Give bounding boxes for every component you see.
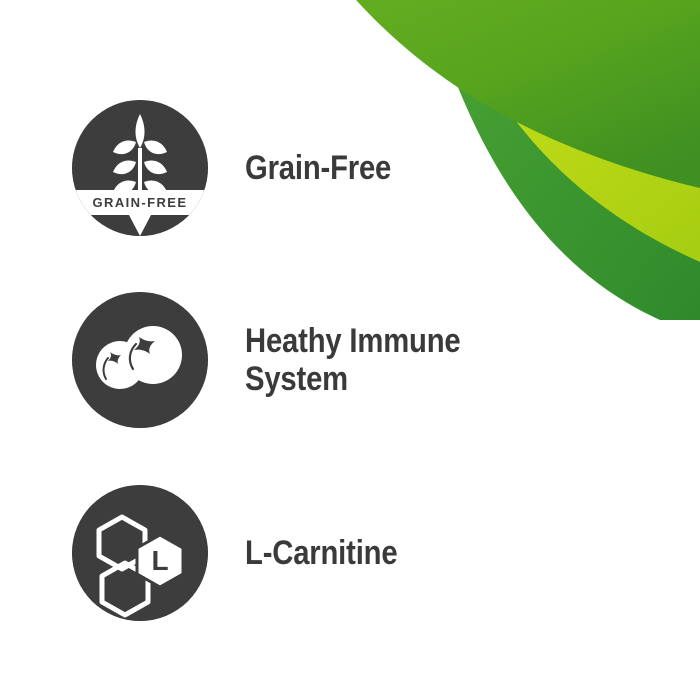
product-feature-panel: GRAIN-FREE Grain-Free Heathy Immune Syst…: [0, 0, 700, 700]
feature-label: Heathy Immune System: [245, 322, 460, 398]
feature-row: L L-Carnitine: [0, 485, 700, 621]
grain-free-badge-text: GRAIN-FREE: [93, 195, 188, 210]
hexagon-molecule-icon: L: [72, 485, 208, 621]
feature-label: L-Carnitine: [245, 534, 397, 572]
feature-row: GRAIN-FREE Grain-Free: [0, 100, 700, 236]
l-carnitine-badge-letter: L: [151, 545, 168, 576]
tomatoes-icon: [72, 292, 208, 428]
feature-row: Heathy Immune System: [0, 292, 700, 428]
grain-free-icon: GRAIN-FREE: [72, 100, 208, 236]
feature-label: Grain-Free: [245, 149, 391, 187]
